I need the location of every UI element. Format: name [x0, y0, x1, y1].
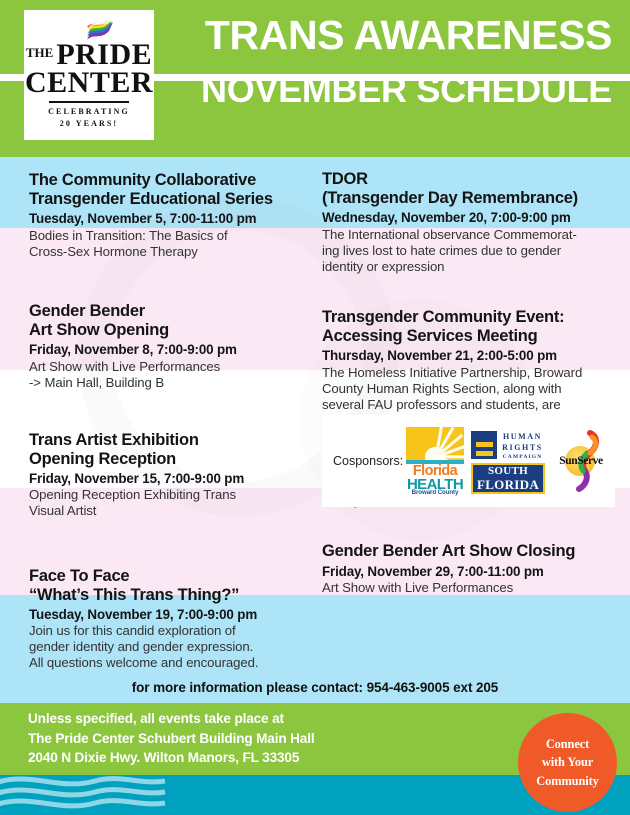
sunburst-icon — [406, 427, 464, 460]
logo-tagline-line2: 20 YEARS! — [60, 118, 118, 130]
cosponsors-panel: Cosponsors: Florida HEALTH — [322, 415, 615, 507]
event-datetime: Tuesday, November 19, 7:00-9:00 pm — [29, 606, 304, 623]
event-datetime: Thursday, November 21, 2:00-5:00 pm — [322, 347, 618, 364]
footer-address: Unless specified, all events take place … — [28, 709, 314, 768]
sf-line-1: SOUTH — [473, 466, 543, 478]
event-datetime: Friday, November 29, 7:00-11:00 pm — [322, 563, 618, 580]
event-entry: TDOR(Transgender Day Remembrance)Wednesd… — [322, 170, 618, 275]
footer-line-2: The Pride Center Schubert Building Main … — [28, 729, 314, 749]
sf-line-2: FLORIDA — [473, 478, 543, 492]
badge-line-3: Community — [536, 772, 598, 791]
connect-with-community-badge[interactable]: Connect with Your Community — [518, 713, 617, 812]
title-line-1: TRANS AWARENESS — [182, 14, 612, 57]
hrc-line-3: CAMPAIGN — [500, 454, 545, 460]
event-description: The International observance Commemorat-… — [322, 227, 618, 275]
event-title: Gender Bender Art Show Closing — [322, 542, 618, 561]
logo-center-text: CENTER — [25, 69, 153, 97]
footer-line-1: Unless specified, all events take place … — [28, 709, 314, 729]
hrc-line-2: RIGHTS — [500, 443, 545, 452]
event-description: Art Show with Live Performances — [322, 580, 618, 596]
equality-equals-icon — [471, 431, 497, 459]
event-entry: Gender Bender Art Show ClosingFriday, No… — [322, 542, 618, 596]
event-datetime: Friday, November 8, 7:00-9:00 pm — [29, 341, 304, 358]
event-description: Opening Reception Exhibiting TransVisual… — [29, 487, 304, 519]
footer-line-3: 2040 N Dixie Hwy. Wilton Manors, FL 3330… — [28, 748, 314, 768]
event-title: The Community CollaborativeTransgender E… — [29, 171, 304, 209]
event-entry: Face To Face“What’s This Trans Thing?”Tu… — [29, 567, 304, 672]
event-title: TDOR(Transgender Day Remembrance) — [322, 170, 618, 208]
event-entry: Trans Artist ExhibitionOpening Reception… — [29, 431, 304, 520]
water-waves-icon — [0, 775, 200, 815]
pride-center-logo: THE PRIDE CENTER CELEBRATING 20 YEARS! — [24, 10, 154, 140]
fh-line-3: Broward County — [406, 489, 464, 496]
hrc-line-1: HUMAN — [500, 432, 545, 441]
event-entry: Gender BenderArt Show OpeningFriday, Nov… — [29, 302, 304, 391]
contact-line: for more information please contact: 954… — [0, 680, 630, 695]
human-rights-campaign-south-florida-logo: HUMAN RIGHTS CAMPAIGN SOUTH FLORIDA — [471, 427, 545, 495]
left-event-column: The Community CollaborativeTransgender E… — [29, 157, 304, 672]
cosponsors-label: Cosponsors: — [322, 454, 406, 468]
event-title: Transgender Community Event:Accessing Se… — [322, 308, 618, 346]
south-florida-chapter-block: SOUTH FLORIDA — [471, 463, 545, 494]
flyer-poster: THE PRIDE CENTER CELEBRATING 20 YEARS! T… — [0, 0, 630, 815]
event-entry: The Community CollaborativeTransgender E… — [29, 171, 304, 260]
rainbow-flag-icon — [83, 20, 121, 42]
logo-divider — [49, 101, 129, 103]
title-line-2: NOVEMBER SCHEDULE — [182, 71, 612, 109]
event-title: Trans Artist ExhibitionOpening Reception — [29, 431, 304, 469]
sunserve-wordmark: SunServe — [550, 455, 612, 467]
event-title: Gender BenderArt Show Opening — [29, 302, 304, 340]
event-description: Bodies in Transition: The Basics ofCross… — [29, 228, 304, 260]
cosponsor-logo-row: Florida HEALTH Broward County HUMAN RIGH… — [406, 427, 610, 495]
event-title: Face To Face“What’s This Trans Thing?” — [29, 567, 304, 605]
event-description: Art Show with Live Performances-> Main H… — [29, 359, 304, 391]
right-event-column: TDOR(Transgender Day Remembrance)Wednesd… — [322, 157, 618, 596]
event-datetime: Wednesday, November 20, 7:00-9:00 pm — [322, 209, 618, 226]
event-datetime: Friday, November 15, 7:00-9:00 pm — [29, 470, 304, 487]
poster-title: TRANS AWARENESS NOVEMBER SCHEDULE — [182, 14, 612, 109]
badge-line-2: with Your — [536, 753, 598, 772]
badge-line-1: Connect — [536, 735, 598, 754]
logo-pride-text: PRIDE — [56, 41, 152, 69]
florida-health-broward-county-logo: Florida HEALTH Broward County — [406, 427, 464, 495]
logo-tagline-line1: CELEBRATING — [48, 106, 130, 118]
event-description: Join us for this candid exploration ofge… — [29, 623, 304, 671]
sunserve-logo: SunServe — [552, 427, 610, 495]
logo-the-text: THE — [26, 45, 53, 61]
event-datetime: Tuesday, November 5, 7:00-11:00 pm — [29, 210, 304, 227]
